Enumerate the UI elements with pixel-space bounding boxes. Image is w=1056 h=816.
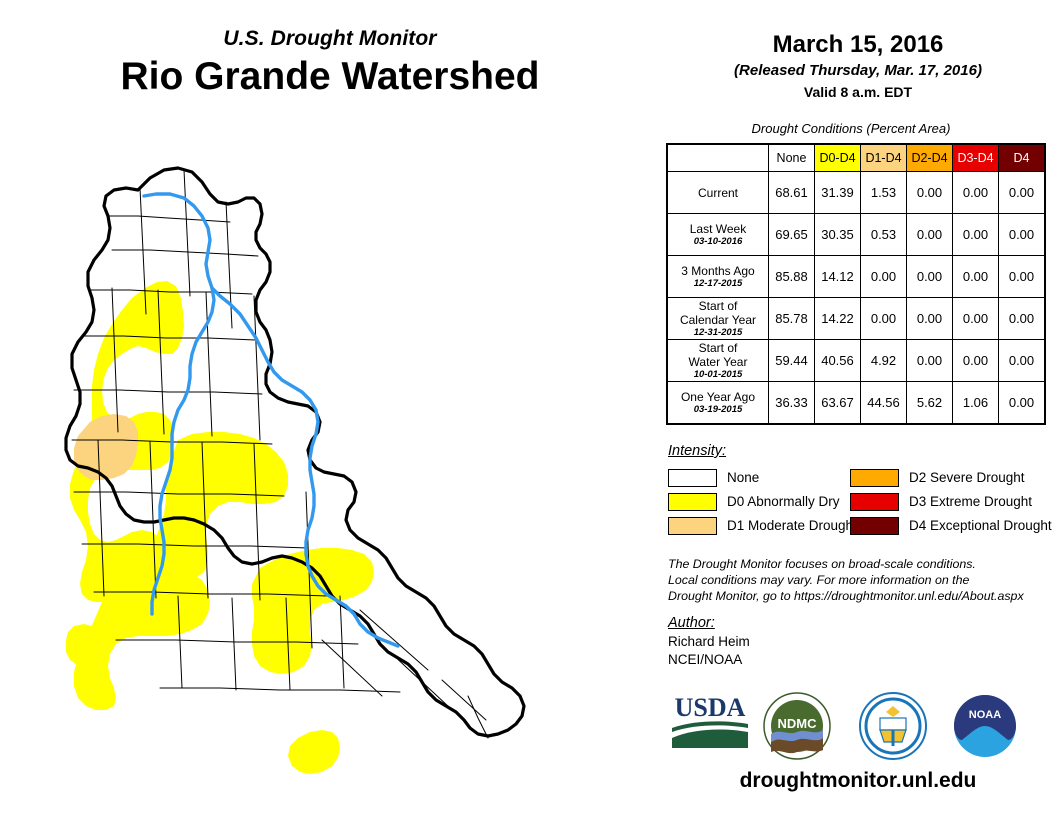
drought-map-svg[interactable] bbox=[60, 140, 660, 810]
cell-d0-d4: 31.39 bbox=[815, 172, 861, 214]
legend-label-d3: D3 Extreme Drought bbox=[909, 494, 1032, 510]
legend-item-none: None bbox=[668, 469, 850, 487]
column-header-d3-d4: D3-D4 bbox=[953, 144, 999, 172]
row-label-date: 03-10-2016 bbox=[668, 236, 768, 248]
legend-item-d1: D1 Moderate Drought bbox=[668, 517, 850, 535]
row-label: Start ofWater Year10-01-2015 bbox=[667, 340, 769, 382]
cell-none: 36.33 bbox=[769, 382, 815, 425]
row-label-date: 10-01-2015 bbox=[668, 369, 768, 381]
legend-label-d1: D1 Moderate Drought bbox=[727, 518, 857, 534]
column-header-d1-d4: D1-D4 bbox=[861, 144, 907, 172]
cell-none: 85.78 bbox=[769, 298, 815, 340]
cell-d2-d4: 0.00 bbox=[907, 256, 953, 298]
legend-label-none: None bbox=[727, 470, 759, 486]
column-header-d0-d4: D0-D4 bbox=[815, 144, 861, 172]
ndmc-logo: NDMC bbox=[760, 690, 834, 762]
table-row: One Year Ago03-19-201536.3363.6744.565.6… bbox=[667, 382, 1045, 425]
noaa-logo: NOAA bbox=[948, 690, 1022, 762]
map-panel: U.S. Drought Monitor Rio Grande Watershe… bbox=[0, 0, 660, 816]
row-label: Start ofCalendar Year12-31-2015 bbox=[667, 298, 769, 340]
drought-area-d1 bbox=[74, 414, 138, 480]
legend-label-d0: D0 Abnormally Dry bbox=[727, 494, 840, 510]
intensity-legend: Intensity: NoneD2 Severe DroughtD0 Abnor… bbox=[668, 442, 1056, 538]
table-row: 3 Months Ago12-17-201585.8814.120.000.00… bbox=[667, 256, 1045, 298]
cell-d1-d4: 0.00 bbox=[861, 256, 907, 298]
site-url[interactable]: droughtmonitor.unl.edu bbox=[660, 768, 1056, 794]
cell-d1-d4: 4.92 bbox=[861, 340, 907, 382]
table-row: Start ofCalendar Year12-31-201585.7814.2… bbox=[667, 298, 1045, 340]
noaa-logo-text: NOAA bbox=[969, 709, 1001, 721]
legend-item-d4: D4 Exceptional Drought bbox=[850, 517, 1050, 535]
legend-swatch-d2 bbox=[850, 469, 899, 487]
title-block: U.S. Drought Monitor Rio Grande Watershe… bbox=[0, 26, 660, 100]
cell-d3-d4: 0.00 bbox=[953, 214, 999, 256]
legend-grid: NoneD2 Severe DroughtD0 Abnormally DryD3… bbox=[668, 466, 1056, 538]
row-label: 3 Months Ago12-17-2015 bbox=[667, 256, 769, 298]
legend-swatch-d1 bbox=[668, 517, 717, 535]
valid-date: March 15, 2016 bbox=[660, 30, 1056, 59]
cell-d3-d4: 0.00 bbox=[953, 172, 999, 214]
cell-d4: 0.00 bbox=[999, 172, 1046, 214]
cell-d1-d4: 44.56 bbox=[861, 382, 907, 425]
disclaimer-text: The Drought Monitor focuses on broad-sca… bbox=[668, 556, 1056, 604]
cell-d3-d4: 0.00 bbox=[953, 340, 999, 382]
row-label: Last Week03-10-2016 bbox=[667, 214, 769, 256]
cell-d1-d4: 0.00 bbox=[861, 298, 907, 340]
drought-conditions-table[interactable]: None D0-D4 D1-D4 D2-D4 D3-D4 D4 Current6… bbox=[666, 143, 1046, 425]
cell-none: 85.88 bbox=[769, 256, 815, 298]
legend-swatch-d3 bbox=[850, 493, 899, 511]
legend-label-d2: D2 Severe Drought bbox=[909, 470, 1025, 486]
cell-d0-d4: 40.56 bbox=[815, 340, 861, 382]
cell-d4: 0.00 bbox=[999, 298, 1046, 340]
legend-item-d2: D2 Severe Drought bbox=[850, 469, 1050, 487]
doc-seal-logo bbox=[856, 690, 930, 762]
disclaimer-line-3: Drought Monitor, go to https://droughtmo… bbox=[668, 588, 1056, 604]
author-affiliation: NCEI/NOAA bbox=[668, 651, 968, 669]
column-header-none: None bbox=[769, 144, 815, 172]
valid-time: Valid 8 a.m. EDT bbox=[660, 83, 1056, 102]
cell-d2-d4: 0.00 bbox=[907, 340, 953, 382]
cell-d2-d4: 0.00 bbox=[907, 298, 953, 340]
drought-map[interactable] bbox=[60, 140, 660, 810]
cell-d3-d4: 1.06 bbox=[953, 382, 999, 425]
row-label-date: 12-31-2015 bbox=[668, 327, 768, 339]
disclaimer-line-2: Local conditions may vary. For more info… bbox=[668, 572, 1056, 588]
logo-row: USDA NDMC NOAA bbox=[660, 690, 1056, 766]
author-block: Author: Richard Heim NCEI/NOAA bbox=[668, 614, 968, 669]
cell-d4: 0.00 bbox=[999, 340, 1046, 382]
cell-d2-d4: 0.00 bbox=[907, 172, 953, 214]
cell-d3-d4: 0.00 bbox=[953, 298, 999, 340]
usda-logo-text: USDA bbox=[675, 693, 746, 722]
author-name: Richard Heim bbox=[668, 633, 968, 651]
cell-d0-d4: 30.35 bbox=[815, 214, 861, 256]
table-header-row: None D0-D4 D1-D4 D2-D4 D3-D4 D4 bbox=[667, 144, 1045, 172]
cell-d0-d4: 14.22 bbox=[815, 298, 861, 340]
legend-swatch-d0 bbox=[668, 493, 717, 511]
cell-d2-d4: 5.62 bbox=[907, 382, 953, 425]
row-label: One Year Ago03-19-2015 bbox=[667, 382, 769, 425]
cell-d0-d4: 14.12 bbox=[815, 256, 861, 298]
released-date: (Released Thursday, Mar. 17, 2016) bbox=[660, 61, 1056, 81]
usda-logo: USDA bbox=[668, 690, 752, 752]
table-caption: Drought Conditions (Percent Area) bbox=[660, 121, 1042, 137]
cell-d1-d4: 0.53 bbox=[861, 214, 907, 256]
table-body: Current68.6131.391.530.000.000.00Last We… bbox=[667, 172, 1045, 425]
cell-d4: 0.00 bbox=[999, 382, 1046, 425]
table-row: Start ofWater Year10-01-201559.4440.564.… bbox=[667, 340, 1045, 382]
cell-d2-d4: 0.00 bbox=[907, 214, 953, 256]
table-row: Last Week03-10-201669.6530.350.530.000.0… bbox=[667, 214, 1045, 256]
column-header-d4: D4 bbox=[999, 144, 1046, 172]
legend-swatch-none bbox=[668, 469, 717, 487]
row-label-date: 12-17-2015 bbox=[668, 278, 768, 290]
cell-d1-d4: 1.53 bbox=[861, 172, 907, 214]
ndmc-logo-text: NDMC bbox=[778, 716, 818, 731]
table-corner-blank bbox=[667, 144, 769, 172]
cell-none: 69.65 bbox=[769, 214, 815, 256]
cell-d4: 0.00 bbox=[999, 256, 1046, 298]
author-label: Author: bbox=[668, 614, 968, 633]
cell-d0-d4: 63.67 bbox=[815, 382, 861, 425]
row-label-date: 03-19-2015 bbox=[668, 404, 768, 416]
page-title: Rio Grande Watershed bbox=[0, 54, 660, 100]
intensity-legend-title: Intensity: bbox=[668, 442, 1056, 460]
cell-d3-d4: 0.00 bbox=[953, 256, 999, 298]
cell-none: 59.44 bbox=[769, 340, 815, 382]
table-row: Current68.6131.391.530.000.000.00 bbox=[667, 172, 1045, 214]
drought-monitor-supertitle: U.S. Drought Monitor bbox=[0, 26, 660, 52]
legend-item-d0: D0 Abnormally Dry bbox=[668, 493, 850, 511]
row-label: Current bbox=[667, 172, 769, 214]
column-header-d2-d4: D2-D4 bbox=[907, 144, 953, 172]
disclaimer-line-1: The Drought Monitor focuses on broad-sca… bbox=[668, 556, 1056, 572]
legend-item-d3: D3 Extreme Drought bbox=[850, 493, 1050, 511]
date-block: March 15, 2016 (Released Thursday, Mar. … bbox=[660, 30, 1056, 102]
cell-none: 68.61 bbox=[769, 172, 815, 214]
drought-area-d0 bbox=[66, 281, 374, 774]
legend-label-d4: D4 Exceptional Drought bbox=[909, 518, 1052, 534]
cell-d4: 0.00 bbox=[999, 214, 1046, 256]
legend-swatch-d4 bbox=[850, 517, 899, 535]
